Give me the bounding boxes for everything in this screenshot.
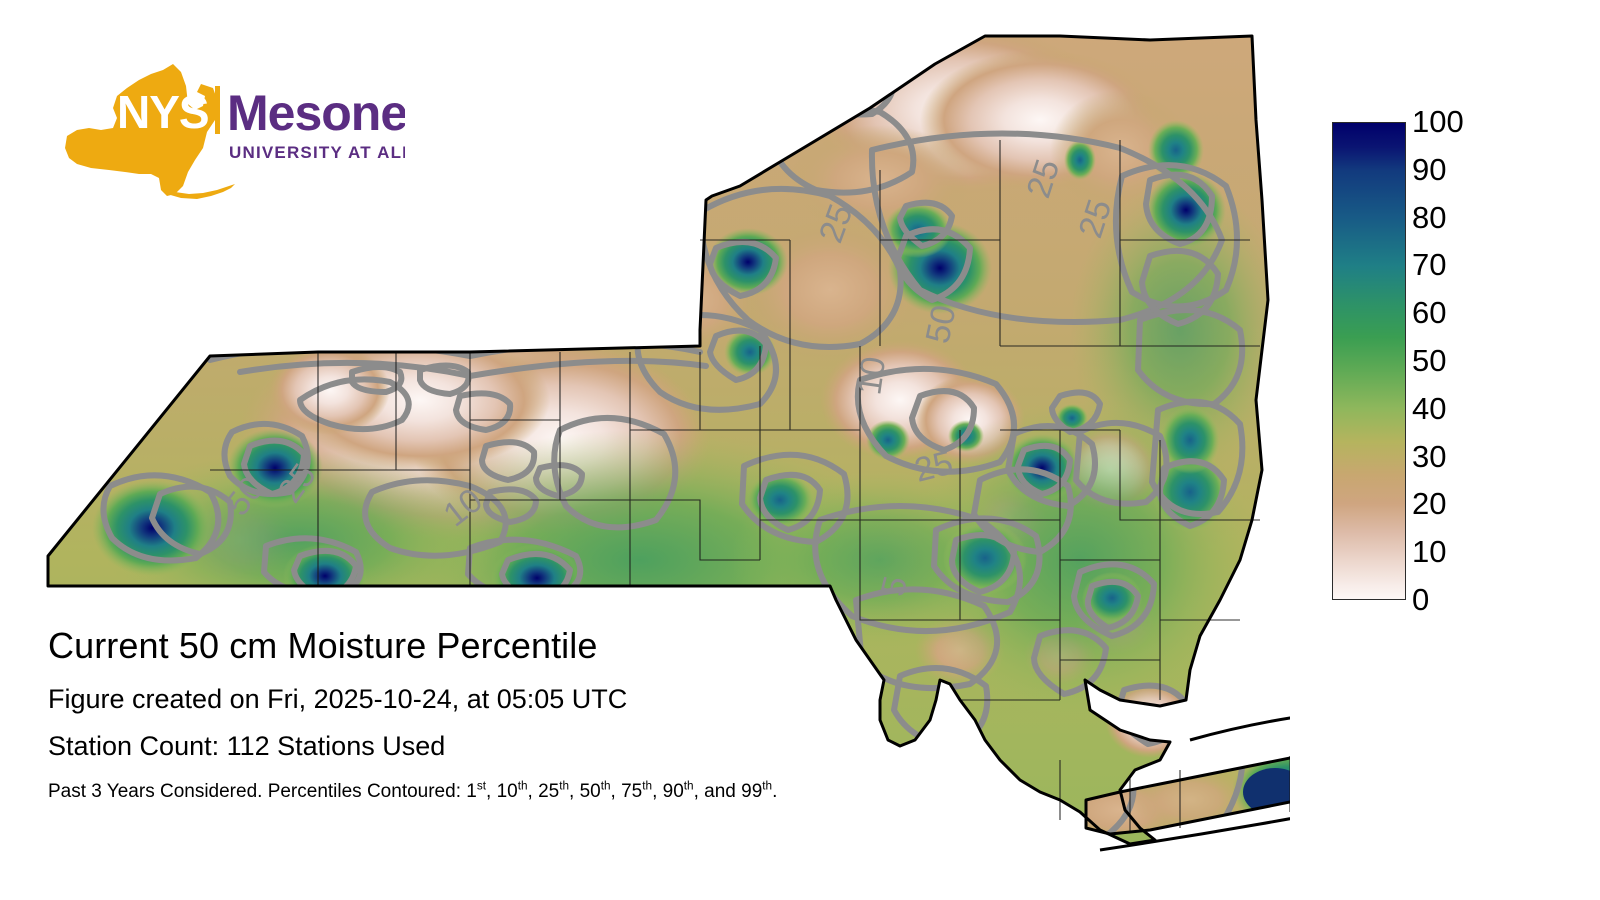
colorbar-gradient <box>1332 122 1406 600</box>
contour-label-50-a: 50 <box>919 302 964 347</box>
colorbar-tick-20: 20 <box>1412 488 1446 519</box>
contour-level-25: 25 <box>538 781 559 802</box>
ordinal-suffix: th <box>559 780 569 793</box>
contour-level-90: 90 <box>663 781 684 802</box>
ordinal-suffix: th <box>642 780 652 793</box>
ordinal-suffix: st <box>477 780 486 793</box>
contour-level-1: 1 <box>466 781 477 802</box>
colorbar-tick-60: 60 <box>1412 297 1446 328</box>
colorbar-tick-80: 80 <box>1412 202 1446 233</box>
figure-caption-block: Current 50 cm Moisture Percentile Figure… <box>48 628 1048 801</box>
colorbar: 1009080706050403020100 <box>1332 122 1582 622</box>
contour-level-99: 99 <box>741 781 762 802</box>
colorbar-tick-30: 30 <box>1412 441 1446 472</box>
figure-root: NYS Mesonet UNIVERSITY AT ALBANY <box>0 0 1600 900</box>
colorbar-tick-50: 50 <box>1412 345 1446 376</box>
colorbar-tick-labels: 1009080706050403020100 <box>1412 122 1572 600</box>
contour-level-75: 75 <box>621 781 642 802</box>
contour-level-10: 10 <box>497 781 518 802</box>
colorbar-tick-70: 70 <box>1412 249 1446 280</box>
colorbar-tick-90: 90 <box>1412 154 1446 185</box>
contour-level-50: 50 <box>580 781 601 802</box>
ordinal-suffix: th <box>684 780 694 793</box>
contour-label-10-a: 10 <box>850 354 893 397</box>
ordinal-suffix: th <box>762 780 772 793</box>
colorbar-tick-40: 40 <box>1412 393 1446 424</box>
colorbar-tick-0: 0 <box>1412 584 1429 615</box>
contour-note: Past 3 Years Considered. Percentiles Con… <box>48 782 1048 801</box>
created-timestamp: Figure created on Fri, 2025-10-24, at 05… <box>48 686 1048 713</box>
ordinal-suffix: th <box>601 780 611 793</box>
station-count: Station Count: 112 Stations Used <box>48 733 1048 760</box>
ordinal-suffix: th <box>518 780 528 793</box>
page-title: Current 50 cm Moisture Percentile <box>48 628 1048 664</box>
colorbar-tick-10: 10 <box>1412 536 1446 567</box>
colorbar-tick-100: 100 <box>1412 106 1464 137</box>
